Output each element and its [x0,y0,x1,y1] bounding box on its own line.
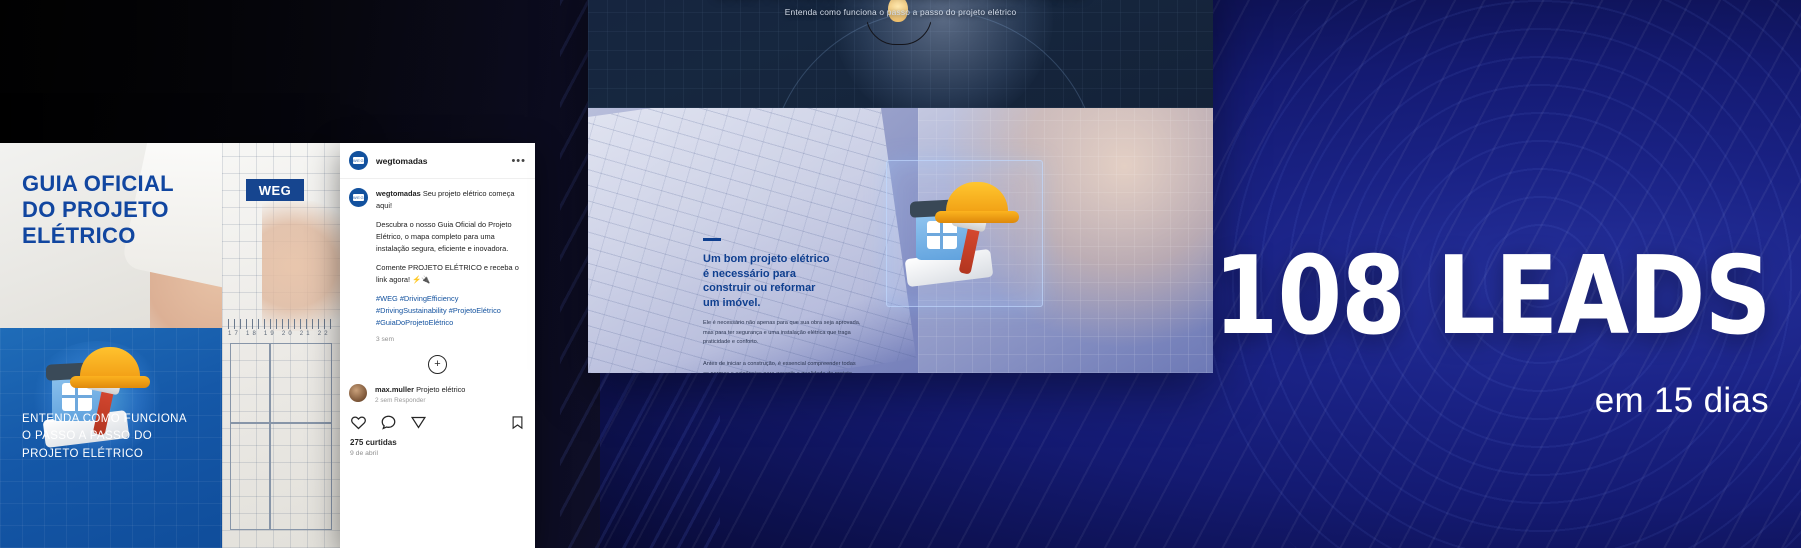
likes-count: 275 curtidas [340,431,535,447]
bookmark-flag-icon[interactable] [510,414,525,431]
heading-accent-rule [703,238,721,241]
leads-subtitle: em 15 dias [1595,383,1769,418]
website-paragraph-2: Antes de iniciar a construção, é essenci… [703,360,863,373]
hardhat-brim-3d-icon [935,211,1019,223]
website-hero: GUIA OFICIAL DO PROJETO ELÉTRICO Entenda… [588,0,1213,108]
comment-text: Projeto elétrico [416,385,465,394]
caption-block: wegtomadas Seu projeto elétrico começa a… [376,188,526,212]
comment-text-block: max.muller Projeto elétrico [375,384,465,395]
blueprint-scale-numbers: 17 18 19 20 21 22 [228,331,338,337]
caption-hashtags[interactable]: #WEG #DrivingEfficiency #DrivingSustaina… [376,293,526,329]
load-more-comments-button[interactable]: + [340,355,535,374]
post-date: 9 de abril [340,447,535,457]
comment-avatar[interactable] [349,384,367,402]
website-hero-title: GUIA OFICIAL DO PROJETO ELÉTRICO [588,0,1213,2]
website-heading: Um bom projeto elétrico é necessário par… [703,252,853,310]
caption-avatar[interactable]: WEG [349,188,368,207]
caption-cta: Comente PROJETO ELÉTRICO e receba o link… [376,262,526,286]
avatar[interactable]: WEG [349,151,368,170]
post-age: 3 sem [376,336,526,343]
hardhat-brim-icon [70,376,150,388]
blueprint-photo-panel: WEG 17 18 19 20 21 22 [222,143,340,548]
leads-headline: 108 LEADS [1214,243,1771,351]
ebook-subtitle: ENTENDA COMO FUNCIONA O PASSO A PASSO DO… [22,411,222,463]
blueprint-scale-ruler [228,319,332,329]
instagram-post-card[interactable]: WEG wegtomadas ••• WEG wegtomadas Seu pr… [340,143,535,548]
comment-row: max.muller Projeto elétrico 2 sem Respon… [340,384,535,404]
like-heart-icon[interactable] [350,414,367,431]
more-options-icon[interactable]: ••• [511,157,526,165]
website-paragraph-1: Ele é necessário não apenas para que sua… [703,319,863,348]
account-name[interactable]: wegtomadas [376,156,428,166]
website-main-section: Um bom projeto elétrico é necessário par… [588,108,1213,373]
instagram-caption-row: WEG wegtomadas Seu projeto elétrico come… [340,179,535,343]
photo-hand-lower [262,201,340,331]
website-hero-subtitle: Entenda como funciona o passo a passo do… [588,7,1213,17]
caption-body: Descubra o nosso Guia Oficial do Projeto… [376,219,526,255]
house-helmet-hammer-3d-icon [906,180,1024,290]
promo-banner: GUIA OFICIAL DO PROJETO ELÉTRICO ENTENDA… [0,0,1801,548]
blueprint-floorplan [230,343,332,530]
weg-logo: WEG [246,179,304,201]
instagram-post-header: WEG wegtomadas ••• [340,143,535,179]
comment-bubble-icon[interactable] [380,414,397,431]
instagram-action-bar [340,404,535,431]
comment-meta[interactable]: 2 sem Responder [375,397,465,404]
plus-icon[interactable]: + [428,355,447,374]
caption-author[interactable]: wegtomadas [376,189,421,198]
comment-author[interactable]: max.muller [375,385,414,394]
website-screenshot-panel[interactable]: GUIA OFICIAL DO PROJETO ELÉTRICO Entenda… [588,0,1213,373]
ebook-title: GUIA OFICIAL DO PROJETO ELÉTRICO [22,171,232,249]
share-paperplane-icon[interactable] [410,414,427,431]
